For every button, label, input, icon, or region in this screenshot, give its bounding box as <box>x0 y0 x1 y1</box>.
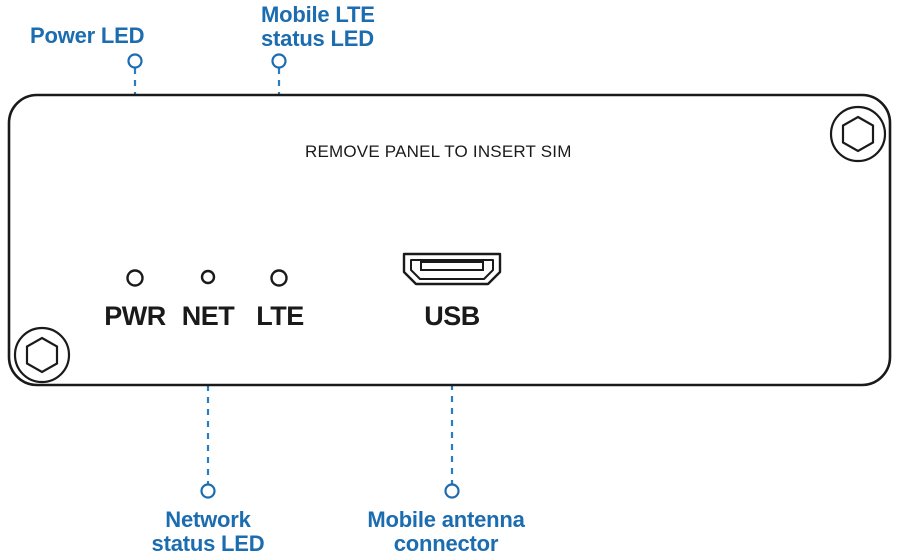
callout-label-network-line2: status LED <box>152 531 265 553</box>
led-lte-icon <box>272 271 287 286</box>
callout-mobile-lte-status-led: Mobile LTE status LED <box>261 2 375 68</box>
callout-power-led: Power LED <box>30 23 144 68</box>
led-net-icon <box>202 271 214 283</box>
callout-mobile-antenna-connector: Mobile antenna connector <box>367 485 525 553</box>
device-front-panel <box>9 95 890 385</box>
callout-label-antenna-line1: Mobile antenna <box>367 507 525 532</box>
callout-label-power-led-line1: Power LED <box>30 23 144 48</box>
led-label-usb: USB <box>424 301 480 331</box>
led-label-net: NET <box>182 301 236 331</box>
sim-instruction-text: REMOVE PANEL TO INSERT SIM <box>305 142 572 161</box>
callout-dot-power-led <box>129 55 142 68</box>
device-panel-diagram: REMOVE PANEL TO INSERT SIM PWR NET LTE U… <box>0 0 900 553</box>
callout-dot-network-status-led <box>202 485 215 498</box>
callout-label-mobile-lte-line2: status LED <box>261 26 374 51</box>
callout-dot-mobile-lte-status-led <box>273 55 286 68</box>
callout-label-mobile-lte-line1: Mobile LTE <box>261 2 375 27</box>
callout-label-antenna-line2: connector <box>394 531 499 553</box>
callout-dot-mobile-antenna-connector <box>446 485 459 498</box>
led-label-lte: LTE <box>256 301 304 331</box>
callout-label-network-line1: Network <box>165 507 251 532</box>
led-label-pwr: PWR <box>104 301 166 331</box>
diagram-canvas: REMOVE PANEL TO INSERT SIM PWR NET LTE U… <box>0 0 900 553</box>
usb-connector <box>404 254 500 284</box>
device-body <box>9 95 890 385</box>
led-pwr-icon <box>128 271 143 286</box>
callout-network-status-led: Network status LED <box>152 485 265 553</box>
usb-contact-slot-icon <box>421 262 483 270</box>
